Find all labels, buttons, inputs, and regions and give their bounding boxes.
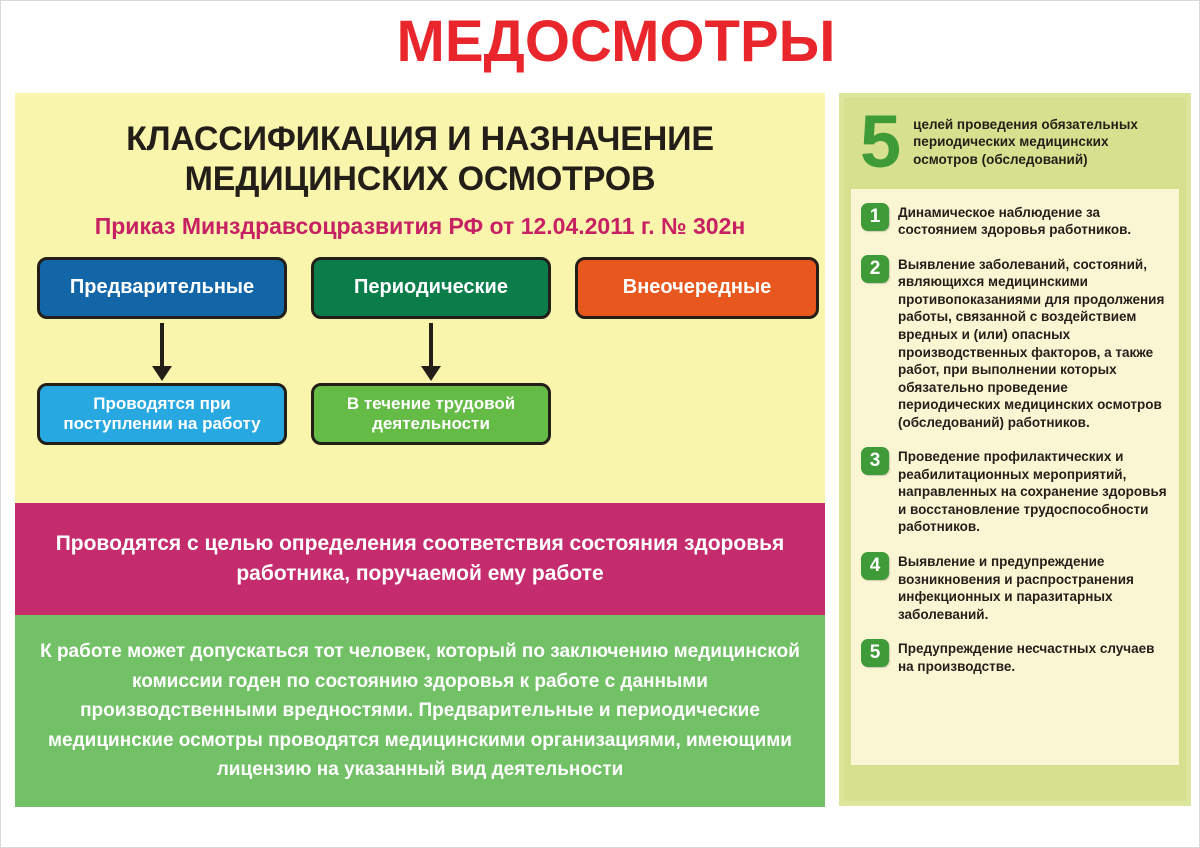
goal-text: Проведение профилактических и реабилитац… xyxy=(898,447,1167,536)
admission-banner-text: К работе может допускаться тот человек, … xyxy=(31,637,809,784)
type-box-preliminary[interactable]: Предварительные xyxy=(37,257,287,319)
goals-list: 1 Динамическое наблюдение за состоянием … xyxy=(851,189,1179,765)
classification-panel: КЛАССИФИКАЦИЯ И НАЗНАЧЕНИЕ МЕДИЦИНСКИХ О… xyxy=(15,93,825,807)
goal-number-badge: 1 xyxy=(861,203,889,231)
arrow-down-icon-periodic xyxy=(429,323,433,367)
goal-number-badge: 5 xyxy=(861,639,889,667)
arrow-down-icon-preliminary xyxy=(160,323,164,367)
type-box-periodic-label: Периодические xyxy=(354,276,508,300)
poster-title: МЕДОСМОТРЫ xyxy=(1,13,1200,71)
purpose-banner-text: Проводятся с целью определения соответст… xyxy=(45,529,795,590)
goal-number-badge: 4 xyxy=(861,552,889,580)
list-item[interactable]: 4 Выявление и предупреждение возникновен… xyxy=(861,552,1167,623)
type-box-extraordinary-label: Внеочередные xyxy=(623,276,771,300)
purpose-banner: Проводятся с целью определения соответст… xyxy=(15,503,825,615)
type-box-extraordinary[interactable]: Внеочередные xyxy=(575,257,819,319)
detail-box-preliminary-label: Проводятся при поступлении на работу xyxy=(40,394,284,434)
type-box-periodic[interactable]: Периодические xyxy=(311,257,551,319)
detail-box-periodic[interactable]: В течение трудовой деятельности xyxy=(311,383,551,445)
admission-banner: К работе может допускаться тот человек, … xyxy=(15,615,825,807)
goals-panel-header-text: целей проведения обязательных периодичес… xyxy=(913,112,1174,168)
panel-heading: КЛАССИФИКАЦИЯ И НАЗНАЧЕНИЕ МЕДИЦИНСКИХ О… xyxy=(33,119,807,199)
list-item[interactable]: 3 Проведение профилактических и реабилит… xyxy=(861,447,1167,536)
goal-text: Выявление заболеваний, состояний, являющ… xyxy=(898,255,1167,431)
goals-count: 5 xyxy=(860,112,901,173)
goal-number-badge: 3 xyxy=(861,447,889,475)
goals-panel: 5 целей проведения обязательных периодич… xyxy=(839,93,1191,806)
type-box-preliminary-label: Предварительные xyxy=(70,276,254,300)
detail-box-periodic-label: В течение трудовой деятельности xyxy=(314,394,548,434)
detail-box-preliminary[interactable]: Проводятся при поступлении на работу xyxy=(37,383,287,445)
goal-text: Динамическое наблюдение за состоянием зд… xyxy=(898,203,1167,239)
poster-root: МЕДОСМОТРЫ КЛАССИФИКАЦИЯ И НАЗНАЧЕНИЕ МЕ… xyxy=(0,0,1200,848)
list-item[interactable]: 2 Выявление заболеваний, состояний, явля… xyxy=(861,255,1167,431)
list-item[interactable]: 1 Динамическое наблюдение за состоянием … xyxy=(861,203,1167,239)
panel-subheading-order-reference: Приказ Минздравсоцразвития РФ от 12.04.2… xyxy=(33,213,807,241)
examination-types-flowchart: Предварительные Периодические Внеочередн… xyxy=(15,257,825,453)
goal-text: Предупреждение несчастных случаев на про… xyxy=(898,639,1167,675)
list-item[interactable]: 5 Предупреждение несчастных случаев на п… xyxy=(861,639,1167,675)
goal-number-badge: 2 xyxy=(861,255,889,283)
goals-panel-header: 5 целей проведения обязательных периодич… xyxy=(844,98,1186,189)
goal-text: Выявление и предупреждение возникновения… xyxy=(898,552,1167,623)
